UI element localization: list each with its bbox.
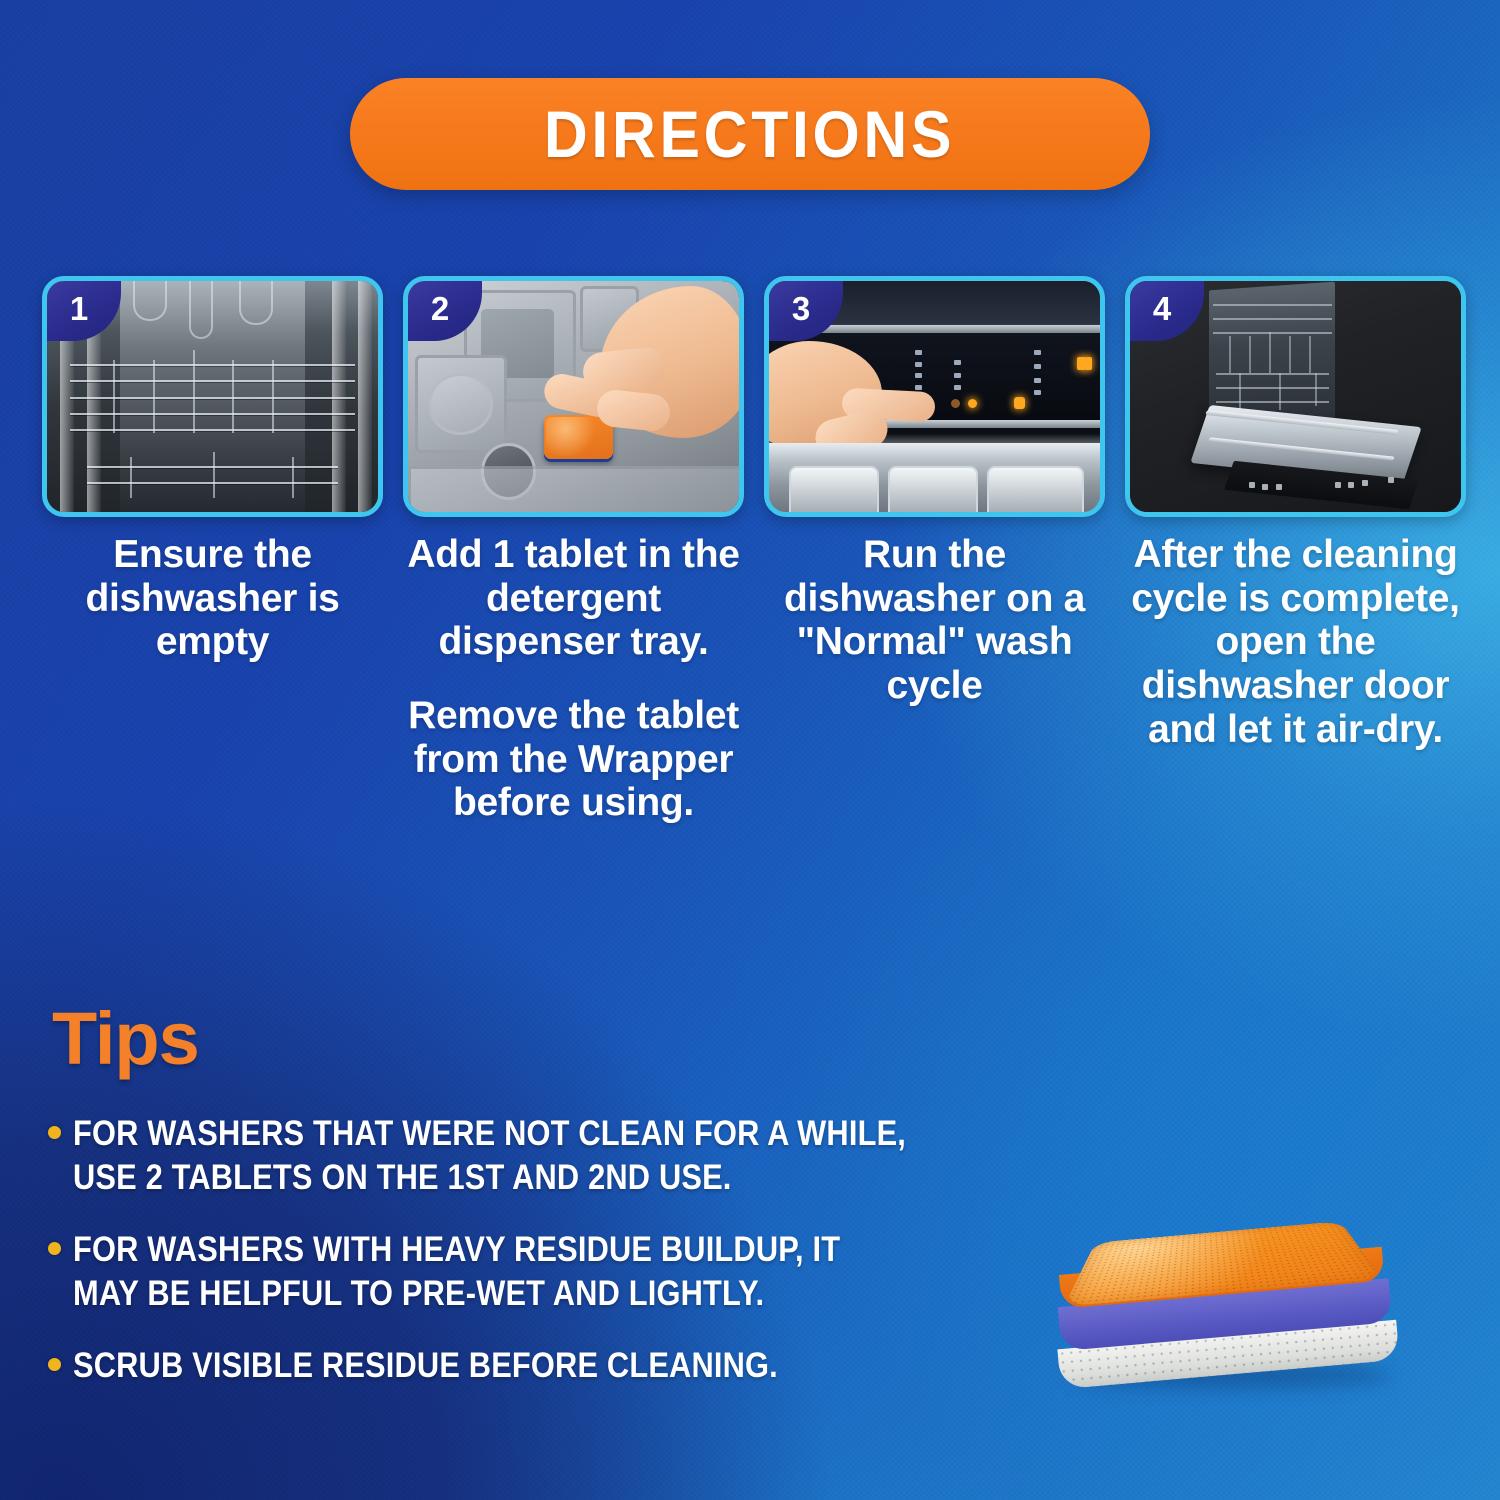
steps-row: 1 Ensure the dishwasher is empty xyxy=(42,276,1466,825)
bullet-dot-icon xyxy=(48,1358,61,1371)
tips-list: FOR WASHERS THAT WERE NOT CLEAN FOR A WH… xyxy=(48,1112,1058,1416)
step-2-caption: Add 1 tablet in the detergent dispenser … xyxy=(403,533,744,825)
step-card-4: 4 After the cleaning cycle is complete, … xyxy=(1125,276,1466,825)
directions-poster: DIRECTIONS xyxy=(0,0,1500,1500)
step-1-image: 1 xyxy=(42,276,383,517)
step-3-image: 3 xyxy=(764,276,1105,517)
bullet-dot-icon xyxy=(48,1242,61,1255)
step-card-1: 1 Ensure the dishwasher is empty xyxy=(42,276,383,825)
tips-heading: Tips xyxy=(52,1002,199,1076)
step-card-2: 2 Add 1 tablet in the detergent dispense… xyxy=(403,276,744,825)
product-tablet-image xyxy=(1030,1142,1500,1402)
page-title: DIRECTIONS xyxy=(544,96,955,172)
tip-text: SCRUB VISIBLE RESIDUE BEFORE CLEANING. xyxy=(73,1344,778,1388)
step-1-caption: Ensure the dishwasher is empty xyxy=(42,533,383,664)
step-2-image: 2 xyxy=(403,276,744,517)
tip-text: FOR WASHERS WITH HEAVY RESIDUE BUILDUP, … xyxy=(73,1228,840,1316)
tip-item: FOR WASHERS THAT WERE NOT CLEAN FOR A WH… xyxy=(48,1112,1058,1200)
step-4-image: 4 xyxy=(1125,276,1466,517)
tip-item: FOR WASHERS WITH HEAVY RESIDUE BUILDUP, … xyxy=(48,1228,1058,1316)
directions-title-pill: DIRECTIONS xyxy=(350,78,1150,190)
three-layer-tablet xyxy=(1021,1125,1440,1389)
step-3-caption: Run the dishwasher on a "Normal" wash cy… xyxy=(764,533,1105,708)
bullet-dot-icon xyxy=(48,1126,61,1139)
header: DIRECTIONS xyxy=(0,78,1500,190)
step-card-3: 3 Run the dishwasher on a "Normal" wash … xyxy=(764,276,1105,825)
tip-text: FOR WASHERS THAT WERE NOT CLEAN FOR A WH… xyxy=(73,1112,906,1200)
step-4-caption: After the cleaning cycle is complete, op… xyxy=(1125,533,1466,751)
tip-item: SCRUB VISIBLE RESIDUE BEFORE CLEANING. xyxy=(48,1344,1058,1388)
